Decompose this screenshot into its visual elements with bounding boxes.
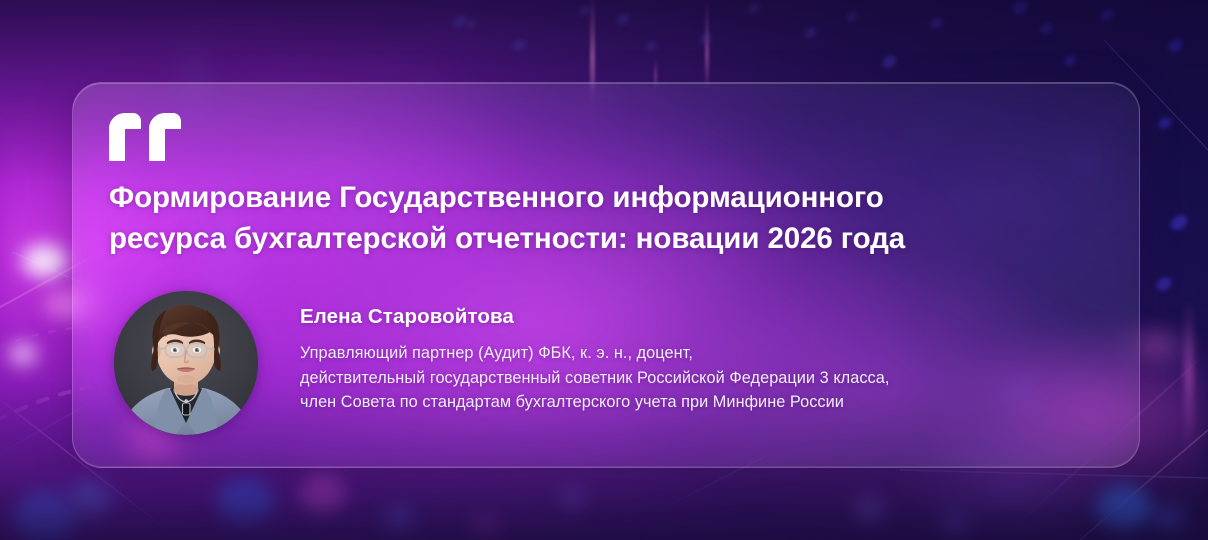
- background-bokeh-dot: [300, 474, 346, 514]
- background-speck: [699, 31, 714, 45]
- background-bokeh-dot: [940, 512, 970, 536]
- title-line: Формирование Государственного информацио…: [109, 177, 1089, 218]
- background-bokeh-dot: [1096, 486, 1152, 532]
- page-title: Формирование Государственного информацио…: [109, 177, 1089, 259]
- background-bokeh-dot: [382, 506, 416, 534]
- background-speck: [1010, 0, 1029, 17]
- background-bokeh-dot: [8, 342, 38, 366]
- background-speck: [803, 25, 819, 40]
- background-speck: [614, 11, 631, 27]
- speaker-role: Управляющий партнер (Аудит) ФБК, к. э. н…: [300, 341, 889, 415]
- background-speck: [510, 37, 527, 53]
- background-light-streak: [1186, 300, 1192, 450]
- speaker-role-line: действительный государственный советник …: [300, 366, 889, 391]
- title-line: ресурса бухгалтерской отчетности: новаци…: [109, 218, 1089, 259]
- speaker-glass-card: Формирование Государственного информацио…: [72, 82, 1140, 468]
- background-bokeh-dot: [68, 480, 112, 518]
- double-quote-icon: [109, 113, 181, 161]
- background-bokeh-dot: [216, 478, 274, 524]
- background-speck: [1156, 115, 1173, 131]
- background-light-streak: [705, 0, 709, 88]
- background-speck: [645, 40, 659, 53]
- background-speck: [1168, 212, 1190, 233]
- speaker-name: Елена Старовойтова: [300, 305, 889, 329]
- background-bokeh-dot: [22, 244, 68, 278]
- speaker-block: Елена Старовойтова Управляющий партнер (…: [114, 291, 889, 435]
- avatar: [114, 291, 258, 435]
- background-speck: [880, 53, 899, 71]
- background-speck: [1063, 53, 1078, 67]
- avatar-portrait-illustration: [114, 291, 258, 435]
- background-speck: [1154, 274, 1174, 293]
- speaker-details: Елена Старовойтова Управляющий партнер (…: [300, 291, 889, 415]
- background-speck: [1166, 37, 1185, 55]
- background-bokeh-dot: [1152, 506, 1186, 534]
- background-speck: [1098, 7, 1115, 23]
- background-bokeh-dot: [14, 492, 76, 540]
- background-bokeh-dot: [560, 486, 586, 510]
- background-bokeh-dot: [852, 496, 886, 524]
- background-speck: [1039, 21, 1055, 36]
- speaker-banner: Формирование Государственного информацио…: [0, 0, 1208, 540]
- background-speck: [747, 1, 762, 15]
- background-speck: [928, 15, 944, 31]
- background-speck: [845, 9, 860, 23]
- speaker-role-line: Управляющий партнер (Аудит) ФБК, к. э. н…: [300, 341, 889, 366]
- background-bokeh-dot: [470, 514, 500, 538]
- speaker-role-line: член Совета по стандартам бухгалтерского…: [300, 390, 889, 415]
